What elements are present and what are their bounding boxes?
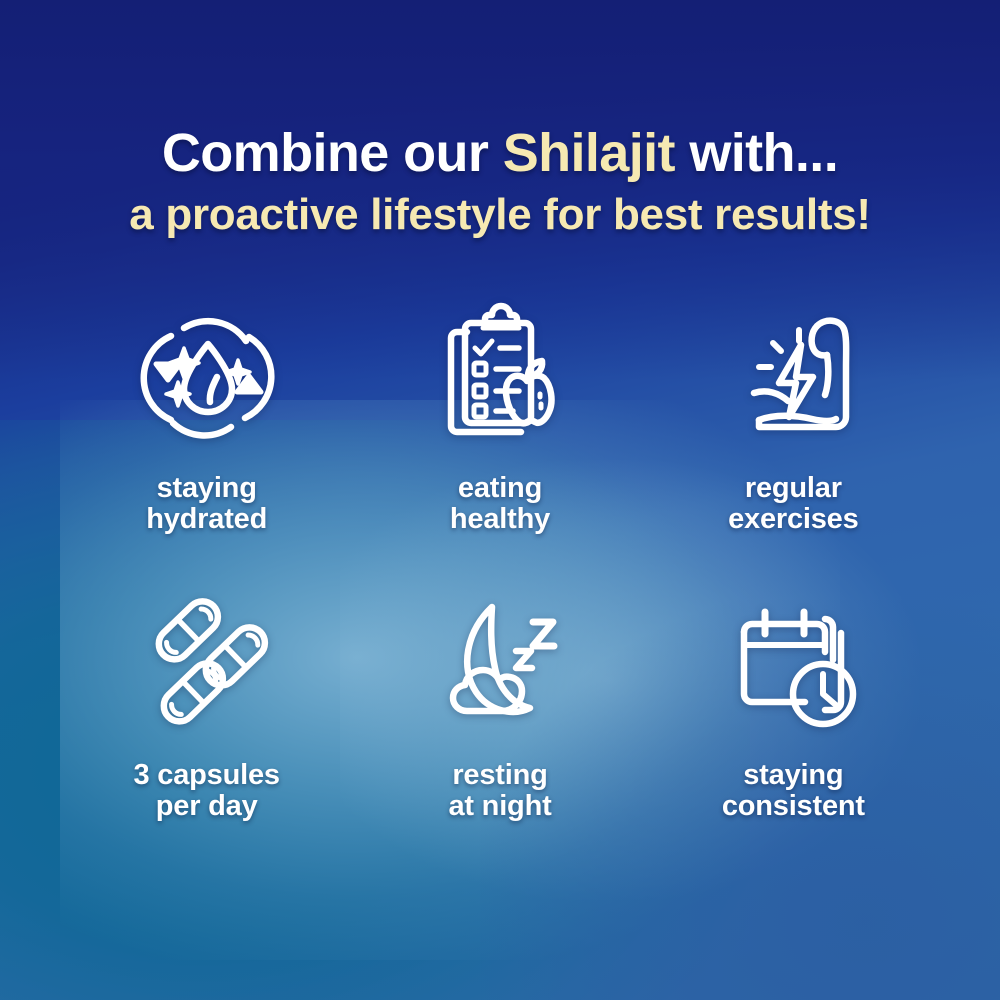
water-drop-hydration-icon bbox=[127, 301, 287, 453]
title-accent-shilajit: Shilajit bbox=[503, 123, 675, 183]
infographic-poster: Combine our Shilajit with... a proactive… bbox=[0, 0, 1000, 1000]
clipboard-checklist-apple-icon bbox=[420, 301, 580, 453]
flexed-bicep-lightning-icon bbox=[713, 301, 873, 453]
lifestyle-items-grid: staying hydrated bbox=[60, 301, 940, 822]
poster-content: Combine our Shilajit with... a proactive… bbox=[0, 0, 1000, 1000]
heading-block: Combine our Shilajit with... a proactive… bbox=[0, 126, 1000, 237]
item-label: regular exercises bbox=[728, 473, 858, 536]
capsule-pills-icon bbox=[127, 588, 287, 740]
calendar-clock-icon bbox=[713, 588, 873, 740]
grid-item-eating-healthy: eating healthy bbox=[353, 301, 646, 536]
title-prefix: Combine our bbox=[162, 123, 503, 183]
item-label: staying hydrated bbox=[146, 473, 267, 536]
grid-item-staying-hydrated: staying hydrated bbox=[60, 301, 353, 536]
grid-item-staying-consistent: staying consistent bbox=[647, 588, 940, 823]
item-label: staying consistent bbox=[722, 760, 865, 823]
item-label: resting at night bbox=[448, 760, 551, 823]
grid-item-3-capsules-per-day: 3 capsules per day bbox=[60, 588, 353, 823]
poster-subtitle: a proactive lifestyle for best results! bbox=[0, 193, 1000, 237]
grid-item-resting-at-night: resting at night bbox=[353, 588, 646, 823]
item-label: 3 capsules per day bbox=[134, 760, 280, 823]
crescent-moon-cloud-sleep-icon bbox=[420, 588, 580, 740]
poster-title: Combine our Shilajit with... bbox=[0, 126, 1000, 180]
item-label: eating healthy bbox=[450, 473, 550, 536]
grid-item-regular-exercises: regular exercises bbox=[647, 301, 940, 536]
title-suffix: with... bbox=[675, 123, 838, 183]
